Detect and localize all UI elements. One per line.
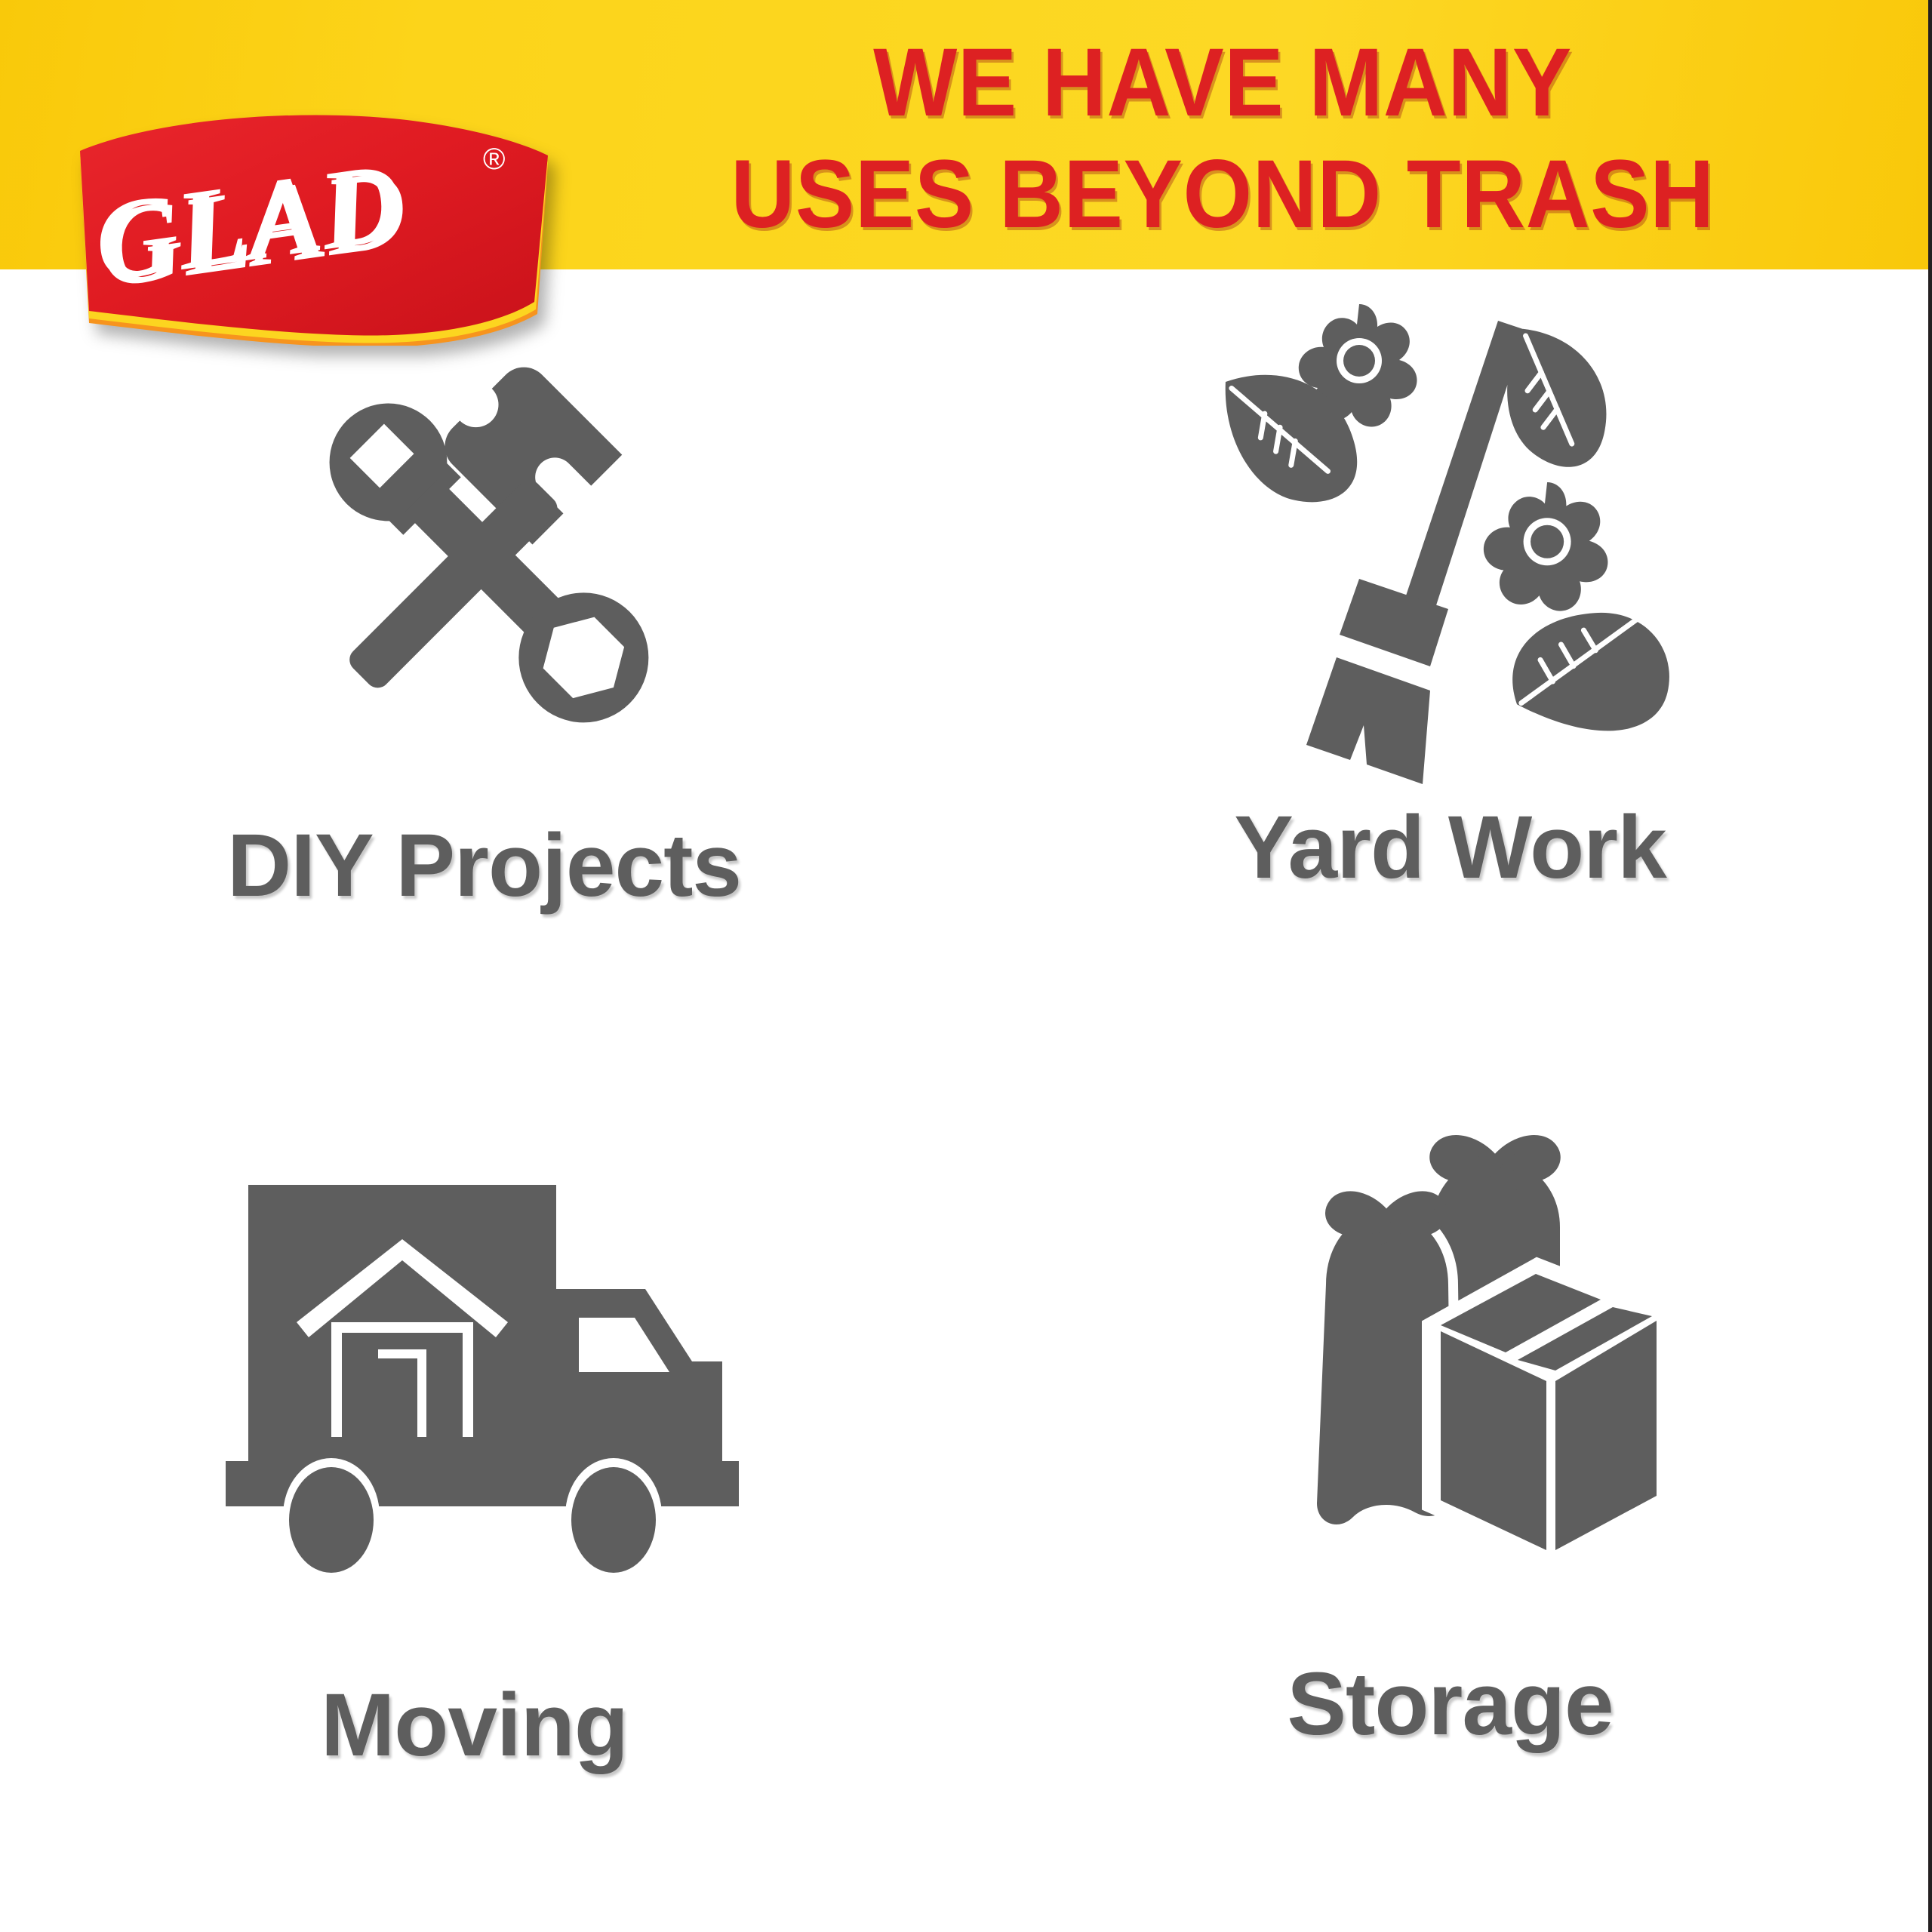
moving-truck-house-icon (218, 1144, 746, 1627)
trash-bags-box-icon (1183, 1121, 1711, 1604)
grid-item-storage: Storage (964, 1100, 1928, 1931)
hammer-wrench-icon (218, 315, 746, 798)
grid-item-yard-work: Yard Work (964, 269, 1928, 1100)
grid-item-label: Moving (321, 1680, 628, 1770)
grid-item-label: Yard Work (1234, 802, 1666, 893)
uses-grid: DIY Projects (0, 269, 1928, 1932)
grid-item-moving: Moving (0, 1100, 964, 1931)
promo-graphic: WE HAVE MANY USES BEYOND TRASH (0, 0, 1932, 1932)
cardboard-box-icon (1432, 1268, 1658, 1553)
broom-flowers-leaves-icon (1183, 292, 1711, 775)
registered-trademark-icon: ® (483, 143, 505, 176)
grid-item-label: Storage (1287, 1659, 1613, 1749)
page-title: WE HAVE MANY USES BEYOND TRASH (626, 27, 1820, 251)
grid-item-diy-projects: DIY Projects (0, 269, 964, 1100)
grid-item-label: DIY Projects (227, 820, 741, 911)
